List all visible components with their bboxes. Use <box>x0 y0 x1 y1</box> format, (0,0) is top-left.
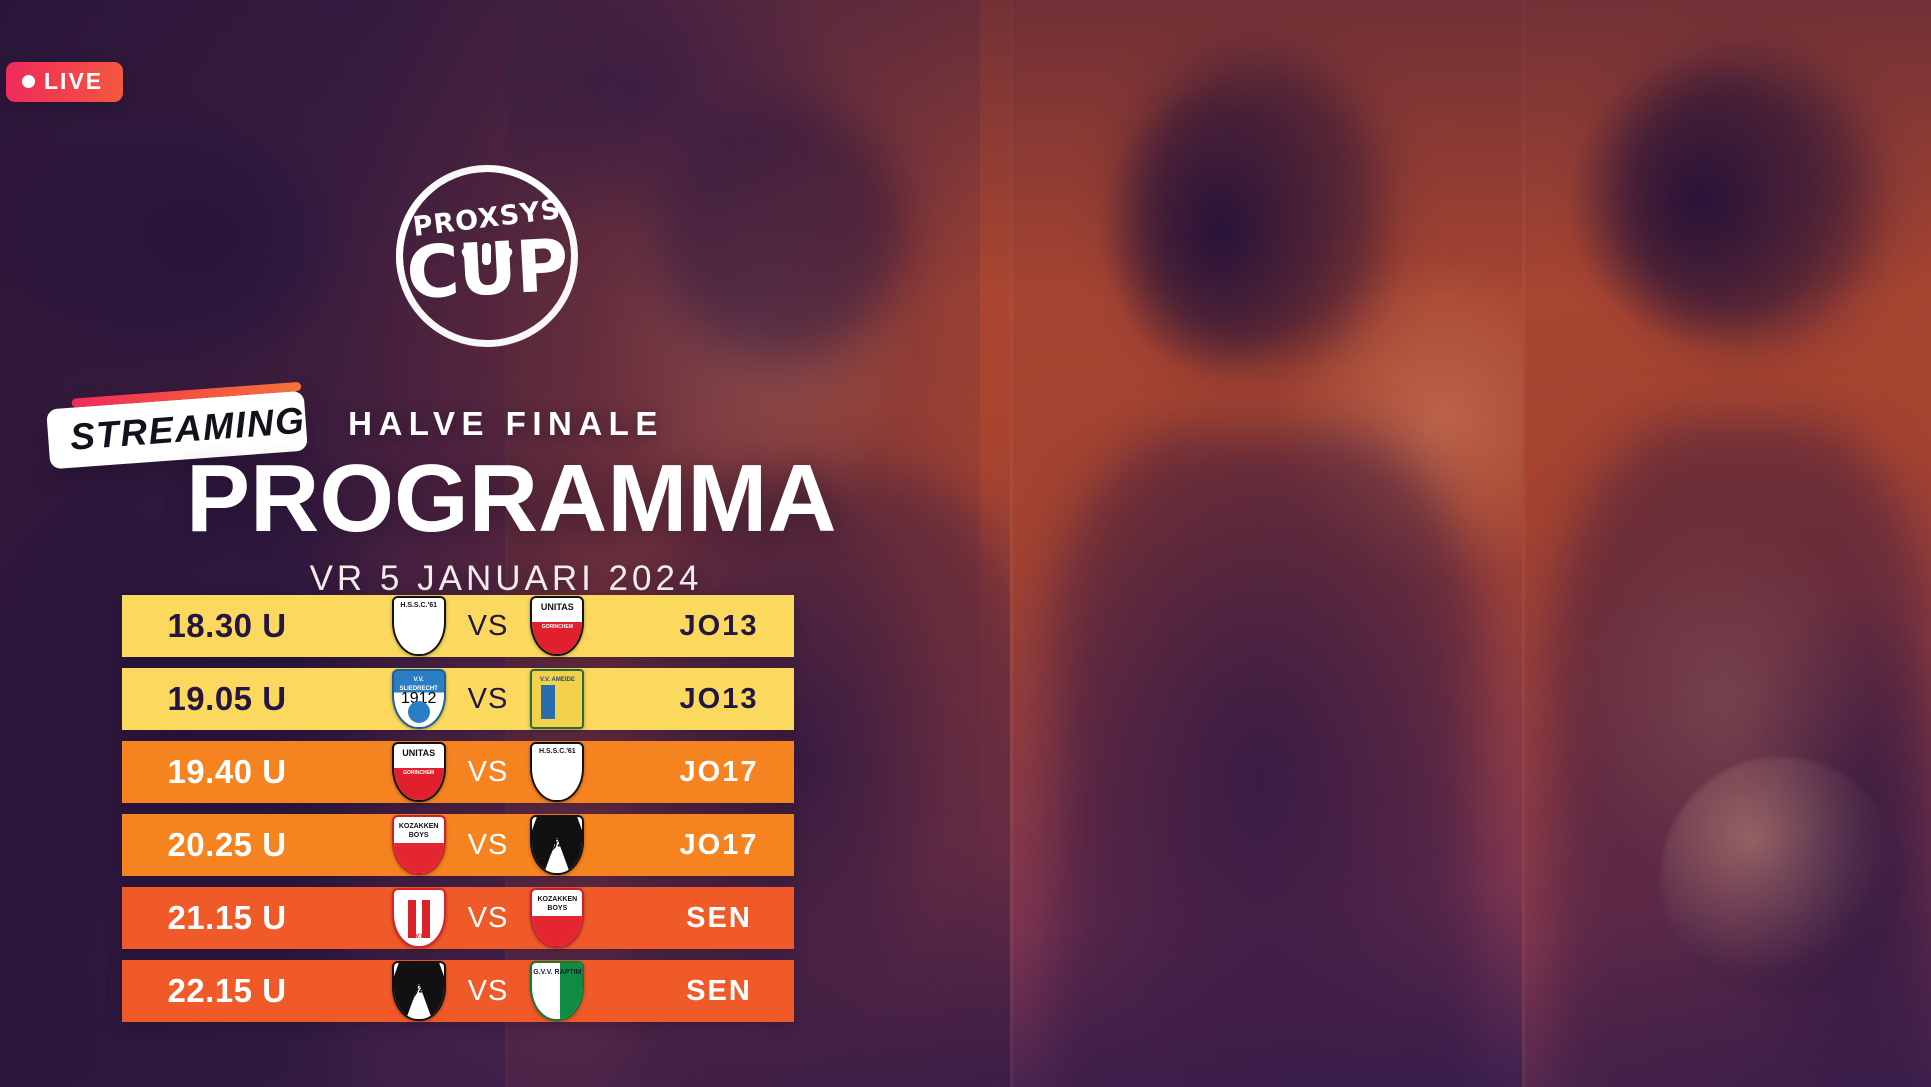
live-dot-icon <box>22 75 35 88</box>
match-category: JO17 <box>644 829 794 862</box>
club-crest-raptim: G.V.V. RAPTIM <box>530 961 584 1021</box>
vs-label: VS <box>468 975 509 1008</box>
panel-silhouette-body-3 <box>1050 430 1480 1087</box>
match-time: 19.40 U <box>122 753 332 791</box>
match-row[interactable]: 22.15 UV.V. SLEEUWIJK1946VSG.V.V. RAPTIM… <box>122 960 794 1022</box>
match-crests: V.V. SLIEDRECHT1912VSV.V. AMEIDE <box>332 669 644 729</box>
page-title: PROGRAMMA <box>186 449 826 549</box>
match-row[interactable]: 18.30 UH.S.S.C.'61VSUNITASGORINCHEMJO13 <box>122 595 794 657</box>
vs-label: VS <box>468 683 509 716</box>
match-crests: S.V.W.VSKOZAKKEN BOYS <box>332 888 644 948</box>
club-crest-svw: S.V.W. <box>392 888 446 948</box>
live-badge: LIVE <box>6 62 123 102</box>
club-crest-kozakken: KOZAKKEN BOYS <box>530 888 584 948</box>
crest-label: H.S.S.C.'61 <box>394 598 444 654</box>
match-time: 19.05 U <box>122 680 332 718</box>
crest-label: V.V. SLIEDRECHT <box>394 671 444 727</box>
football-icon <box>1661 757 1901 997</box>
match-schedule: 18.30 UH.S.S.C.'61VSUNITASGORINCHEMJO131… <box>122 595 794 1022</box>
club-crest-hssc: H.S.S.C.'61 <box>530 742 584 802</box>
vs-label: VS <box>468 610 509 643</box>
match-category: SEN <box>644 975 794 1008</box>
crest-sublabel: GORINCHEM <box>394 770 444 776</box>
match-crests: KOZAKKEN BOYSVSV.V. SLEEUWIJK1946 <box>332 815 644 875</box>
match-category: JO13 <box>644 683 794 716</box>
vs-label: VS <box>468 829 509 862</box>
heading-kicker: HALVE FINALE <box>186 405 826 443</box>
match-row[interactable]: 20.25 UKOZAKKEN BOYSVSV.V. SLEEUWIJK1946… <box>122 814 794 876</box>
crest-label: H.S.S.C.'61 <box>532 744 582 800</box>
logo-cup-text: CUP <box>394 228 580 309</box>
club-crest-unitas: UNITASGORINCHEM <box>392 742 446 802</box>
proxsys-cup-logo: PROXSYS CUP <box>396 165 578 347</box>
heading-date: VR 5 JANUARI 2024 <box>186 559 826 599</box>
match-row[interactable]: 19.40 UUNITASGORINCHEMVSH.S.S.C.'61JO17 <box>122 741 794 803</box>
crest-label: V.V. AMEIDE <box>532 671 582 727</box>
crest-label: KOZAKKEN BOYS <box>394 817 444 873</box>
club-crest-ameide: V.V. AMEIDE <box>530 669 584 729</box>
match-category: JO17 <box>644 756 794 789</box>
match-row[interactable]: 21.15 US.V.W.VSKOZAKKEN BOYSSEN <box>122 887 794 949</box>
crest-label: G.V.V. RAPTIM <box>532 963 582 1019</box>
match-time: 21.15 U <box>122 899 332 937</box>
club-crest-hssc: H.S.S.C.'61 <box>392 596 446 656</box>
match-crests: V.V. SLEEUWIJK1946VSG.V.V. RAPTIM <box>332 961 644 1021</box>
match-crests: UNITASGORINCHEMVSH.S.S.C.'61 <box>332 742 644 802</box>
match-category: SEN <box>644 902 794 935</box>
poster-canvas: PROXSYS CUP STREAMING LIVE HALVE FINALE … <box>0 0 1931 1087</box>
match-row[interactable]: 19.05 UV.V. SLIEDRECHT1912VSV.V. AMEIDEJ… <box>122 668 794 730</box>
heading-block: HALVE FINALE PROGRAMMA VR 5 JANUARI 2024 <box>186 405 826 599</box>
club-crest-unitas: UNITASGORINCHEM <box>530 596 584 656</box>
club-crest-sleeuwijk: V.V. SLEEUWIJK1946 <box>530 815 584 875</box>
match-category: JO13 <box>644 610 794 643</box>
match-time: 18.30 U <box>122 607 332 645</box>
club-crest-slied: V.V. SLIEDRECHT1912 <box>392 669 446 729</box>
crest-label: KOZAKKEN BOYS <box>532 890 582 946</box>
match-crests: H.S.S.C.'61VSUNITASGORINCHEM <box>332 596 644 656</box>
club-crest-kozakken: KOZAKKEN BOYS <box>392 815 446 875</box>
vs-label: VS <box>468 902 509 935</box>
crest-sublabel: GORINCHEM <box>532 624 582 630</box>
vs-label: VS <box>468 756 509 789</box>
match-time: 22.15 U <box>122 972 332 1010</box>
crest-label: S.V.W. <box>394 890 444 946</box>
club-crest-sleeuwijk: V.V. SLEEUWIJK1946 <box>392 961 446 1021</box>
live-label: LIVE <box>44 70 103 93</box>
match-time: 20.25 U <box>122 826 332 864</box>
